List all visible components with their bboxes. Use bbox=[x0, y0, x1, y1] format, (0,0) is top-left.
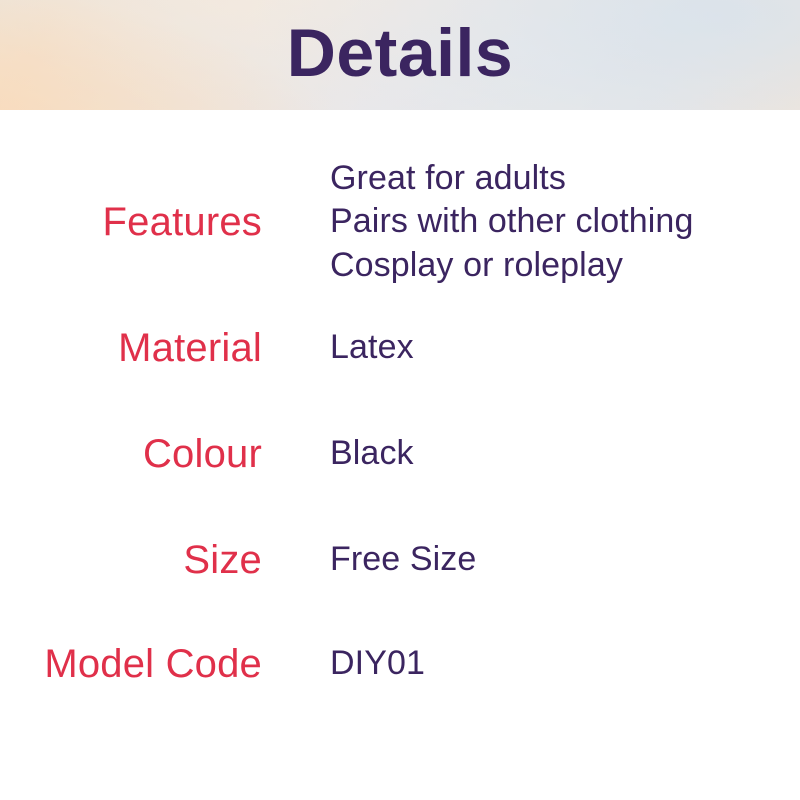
details-page: Details Features Great for adults Pairs … bbox=[0, 0, 800, 800]
spec-value-line: Free Size bbox=[330, 538, 800, 582]
spec-value-line: Cosplay or roleplay bbox=[330, 244, 800, 288]
spec-value-line: Pairs with other clothing bbox=[330, 200, 800, 244]
spec-label-model-code: Model Code bbox=[0, 641, 262, 687]
spec-value-line: Great for adults bbox=[330, 157, 800, 201]
page-header-banner: Details bbox=[0, 0, 800, 110]
details-spec-table: Features Great for adults Pairs with oth… bbox=[0, 110, 800, 716]
spec-label-size: Size bbox=[0, 537, 262, 583]
spec-value-line: Black bbox=[330, 432, 800, 476]
table-row: Model Code DIY01 bbox=[0, 612, 800, 716]
table-row: Material Latex bbox=[0, 296, 800, 399]
spec-value-material: Latex bbox=[262, 326, 800, 370]
table-row: Colour Black bbox=[0, 399, 800, 508]
spec-label-features: Features bbox=[0, 199, 262, 245]
page-title: Details bbox=[0, 0, 800, 110]
table-row: Size Free Size bbox=[0, 508, 800, 612]
spec-label-material: Material bbox=[0, 325, 262, 371]
spec-value-line: Latex bbox=[330, 326, 800, 370]
spec-value-colour: Black bbox=[262, 432, 800, 476]
spec-value-size: Free Size bbox=[262, 538, 800, 582]
spec-value-line: DIY01 bbox=[330, 642, 800, 686]
spec-label-colour: Colour bbox=[0, 431, 262, 477]
table-row: Features Great for adults Pairs with oth… bbox=[0, 148, 800, 296]
spec-value-model-code: DIY01 bbox=[262, 642, 800, 686]
spec-value-features: Great for adults Pairs with other clothi… bbox=[262, 157, 800, 288]
